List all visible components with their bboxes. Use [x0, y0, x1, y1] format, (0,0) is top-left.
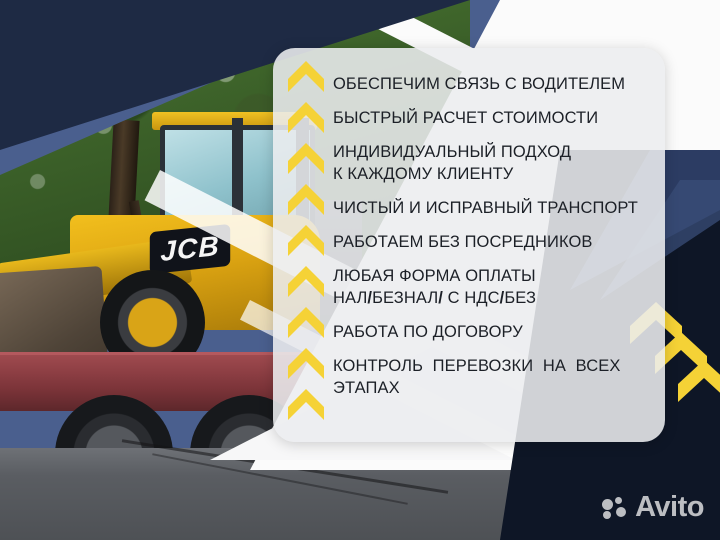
feature-line: ЛЮБАЯ ФОРМА ОПЛАТЫ [333, 266, 655, 286]
feature-line: ЭТАПАХ [333, 378, 655, 398]
chevron-up-icon [286, 56, 326, 96]
feature-line: РАБОТАЕМ БЕЗ ПОСРЕДНИКОВ [333, 232, 655, 252]
feature-line: ЧИСТЫЙ И ИСПРАВНЫЙ ТРАНСПОРТ [333, 198, 655, 218]
feature-line: ИНДИВИДУАЛЬНЫЙ ПОДХОД [333, 142, 655, 162]
chevron-up-icon [286, 261, 326, 301]
feature-line: РАБОТА ПО ДОГОВОРУ [333, 322, 655, 342]
feature-line: НАЛ/БЕЗНАЛ/ С НДС/БЕЗ [333, 288, 655, 308]
feature-line: КОНТРОЛЬ ПЕРЕВОЗКИ НА ВСЕХ [333, 356, 655, 376]
chevron-up-icon [286, 384, 326, 424]
avito-watermark: Avito [602, 493, 704, 522]
chevron-up-icon [286, 138, 326, 178]
chevron-up-icon [286, 220, 326, 260]
chevron-up-left-icon [678, 358, 720, 402]
chevron-up-icon [286, 302, 326, 342]
chevron-up-icon [286, 179, 326, 219]
features-card: ОБЕСПЕЧИМ СВЯЗЬ С ВОДИТЕЛЕМБЫСТРЫЙ РАСЧЕ… [273, 48, 665, 442]
chevron-up-icon [286, 97, 326, 137]
avito-brand-label: Avito [635, 493, 704, 522]
feature-line: БЫСТРЫЙ РАСЧЕТ СТОИМОСТИ [333, 108, 655, 128]
feature-line: К КАЖДОМУ КЛИЕНТУ [333, 164, 655, 184]
features-list: ОБЕСПЕЧИМ СВЯЗЬ С ВОДИТЕЛЕМБЫСТРЫЙ РАСЧЕ… [333, 74, 655, 412]
advertisement-banner: JCB ОБЕСПЕЧИМ СВЯЗЬ С ВОДИТЕЛЕМБЫСТРЫЙ Р… [0, 0, 720, 540]
chevron-up-icon [286, 343, 326, 383]
feature-line: ОБЕСПЕЧИМ СВЯЗЬ С ВОДИТЕЛЕМ [333, 74, 655, 94]
avito-dots-icon [602, 497, 628, 519]
chevron-column [283, 56, 329, 436]
